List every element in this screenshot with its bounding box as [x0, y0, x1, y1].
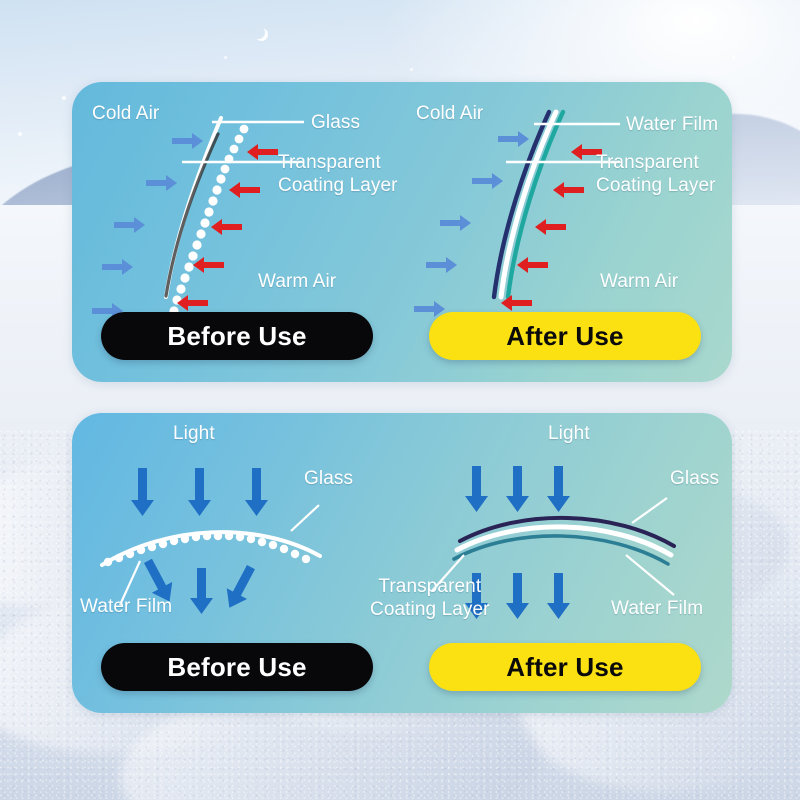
state-pill-after[interactable]: After Use [429, 312, 701, 360]
crescent-sparkle-icon [252, 26, 265, 39]
sparkle-icon [62, 96, 66, 100]
state-pill-after[interactable]: After Use [429, 643, 701, 691]
panel-fog-before: Cold Air Glass Transparent Coating Layer… [72, 82, 402, 382]
label-transparent-coating-layer: Transparent Coating Layer [370, 575, 490, 621]
state-pill-before[interactable]: Before Use [101, 643, 373, 691]
label-warm-air: Warm Air [600, 270, 678, 293]
label-glass: Glass [304, 467, 353, 490]
incoming-light-arrows [465, 466, 570, 512]
label-water-film: Water Film [611, 597, 703, 620]
leader-line-water-film [626, 555, 674, 595]
sparkle-icon [410, 68, 413, 71]
comparison-card-light: Light Glass Water Film Before Use [72, 413, 732, 713]
label-light: Light [173, 422, 215, 445]
label-transparent-coating-layer: Transparent Coating Layer [596, 151, 716, 197]
label-water-film: Water Film [626, 113, 718, 136]
sparkle-icon [732, 56, 735, 59]
label-cold-air: Cold Air [92, 102, 159, 125]
label-glass: Glass [670, 467, 719, 490]
incoming-light-arrows [131, 468, 268, 516]
label-glass: Glass [311, 111, 360, 134]
sparkle-icon [224, 56, 227, 59]
panel-fog-after: Cold Air Water Film Transparent Coating … [402, 82, 732, 382]
label-transparent-coating-layer: Transparent Coating Layer [278, 151, 398, 197]
label-light: Light [548, 422, 590, 445]
label-warm-air: Warm Air [258, 270, 336, 293]
panel-light-after: Light Glass Transparent Coating Layer Wa… [402, 413, 732, 713]
sparkle-icon [18, 132, 22, 136]
label-water-film: Water Film [80, 595, 172, 618]
label-cold-air: Cold Air [416, 102, 483, 125]
cold-air-arrows [414, 131, 529, 317]
state-pill-before[interactable]: Before Use [101, 312, 373, 360]
comparison-card-fog: Cold Air Glass Transparent Coating Layer… [72, 82, 732, 382]
leader-line-glass [632, 498, 667, 523]
leader-line-glass [291, 505, 319, 531]
panel-light-before: Light Glass Water Film Before Use [72, 413, 402, 713]
